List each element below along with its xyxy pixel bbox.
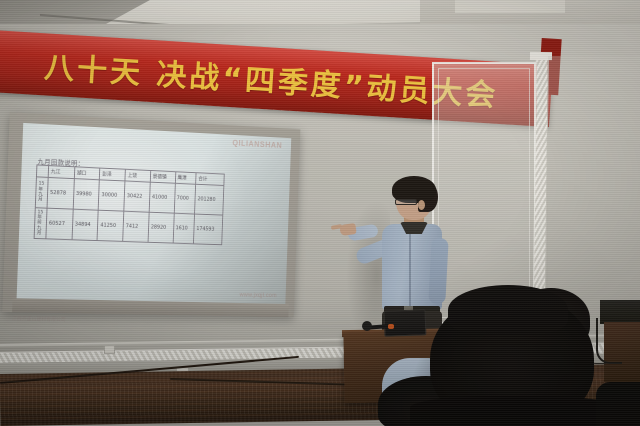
- presenter-ear: [418, 200, 425, 210]
- slide-footer-company: 江西齐连山建材有限公司: [12, 315, 66, 323]
- attendee-hair-foreground: [448, 285, 568, 335]
- glasses-icon: [395, 199, 417, 205]
- attendee-body-foreground: [410, 396, 620, 426]
- microphone-head: [362, 321, 372, 331]
- microphone-tip-light: [388, 324, 394, 329]
- conference-room-photo: 八十天 决战“四季度”动员大会 QILIANSHAN 九月回款说明： 九江 湖口…: [0, 0, 640, 426]
- attendee-shoulder-right: [596, 382, 640, 426]
- ceiling-notch: [455, 0, 565, 13]
- presenter-right-arm: [428, 238, 448, 305]
- projection-falloff: [17, 123, 292, 304]
- laptop-icon[interactable]: [384, 309, 427, 336]
- projected-slide: QILIANSHAN 九月回款说明： 九江 湖口 彭泽 上饶 景德镇 鹰潭 合计: [17, 123, 292, 304]
- presenter-shirt-placket: [409, 232, 411, 308]
- wall-outlet-icon[interactable]: [104, 345, 115, 354]
- projection-screen: QILIANSHAN 九月回款说明： 九江 湖口 彭泽 上饶 景德镇 鹰潭 合计: [2, 112, 300, 317]
